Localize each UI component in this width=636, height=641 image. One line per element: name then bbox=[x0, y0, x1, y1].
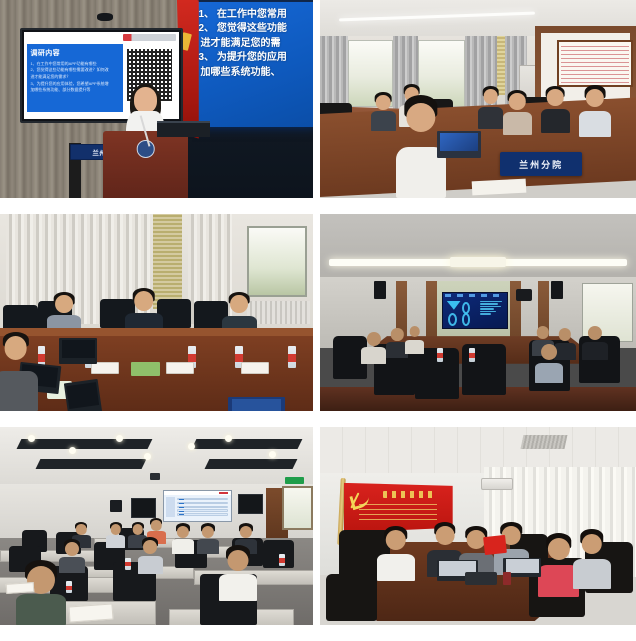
trainee bbox=[106, 524, 125, 548]
projection-line-2: 2、 您觉得这些功能 bbox=[198, 22, 312, 37]
attendee-body bbox=[361, 347, 386, 363]
attendee bbox=[579, 89, 611, 137]
attendee bbox=[405, 326, 424, 354]
official-head bbox=[134, 291, 154, 311]
attendee-head bbox=[509, 93, 525, 109]
trainee-head bbox=[202, 526, 214, 538]
trainee-head bbox=[65, 542, 79, 556]
trainee-head bbox=[227, 550, 248, 571]
trainee-body bbox=[197, 539, 219, 553]
tablet bbox=[228, 397, 284, 411]
trainee-head bbox=[143, 540, 157, 554]
display-titlebar bbox=[164, 491, 231, 495]
attendee-body bbox=[503, 112, 531, 134]
attendee-head bbox=[483, 89, 498, 104]
ceiling-beam bbox=[35, 459, 146, 469]
downlight bbox=[144, 453, 151, 460]
corridor-window bbox=[282, 486, 313, 530]
display-row bbox=[177, 513, 228, 515]
slide-body: 调研内容 1、在工作中您常用的APP功能有哪些 2、您觉得这些功能有哪些需要改进… bbox=[27, 44, 123, 112]
wall-clock-icon bbox=[516, 289, 532, 301]
display-sidebar bbox=[166, 497, 175, 518]
attendee-body bbox=[478, 107, 503, 128]
water-bottle bbox=[288, 346, 296, 368]
attendee-head bbox=[588, 326, 602, 340]
trainee bbox=[219, 550, 257, 601]
camera-icon bbox=[97, 13, 113, 21]
photo-collage: 1、 在工作中您常用 2、 您觉得这些功能 进才能满足您的需 3、 为提升您的应… bbox=[0, 0, 636, 641]
banner-oath-text bbox=[359, 503, 438, 520]
attendee-head bbox=[406, 103, 435, 132]
trainee-body bbox=[106, 535, 125, 547]
speaker bbox=[374, 281, 387, 299]
brand-logo-icon bbox=[123, 34, 176, 41]
attendee bbox=[361, 332, 386, 364]
downlight bbox=[269, 451, 276, 458]
participant bbox=[377, 530, 415, 581]
trainee bbox=[138, 540, 163, 574]
attendee bbox=[582, 326, 607, 359]
desk-nameplate: 兰州分院 bbox=[500, 152, 582, 176]
laptop bbox=[59, 338, 97, 364]
slide-item-3: 进才能满足您的需求？ bbox=[30, 74, 120, 81]
presenter-head bbox=[134, 87, 157, 113]
downlight bbox=[28, 435, 35, 442]
exit-sign-icon bbox=[285, 477, 304, 484]
donut-gauge bbox=[462, 313, 470, 325]
trainee-head bbox=[240, 526, 252, 538]
green-desk-box bbox=[131, 362, 159, 376]
official-head bbox=[230, 295, 248, 314]
laptop bbox=[437, 131, 481, 159]
display-row bbox=[177, 506, 228, 508]
laptop-screen bbox=[440, 133, 477, 150]
attendee-body bbox=[371, 111, 396, 130]
participant-head bbox=[386, 530, 406, 550]
chair bbox=[326, 574, 377, 622]
photo-panel-3 bbox=[0, 214, 313, 411]
attendee-head bbox=[4, 336, 27, 360]
foreground-attendee bbox=[0, 336, 38, 411]
projection-screen: 1、 在工作中您常用 2、 您觉得这些功能 进才能满足您的需 3、 为提升您的应… bbox=[192, 2, 313, 127]
dashboard-header bbox=[445, 294, 504, 297]
ceiling-vent bbox=[521, 435, 568, 449]
attendee-head bbox=[559, 328, 571, 340]
attendee-head bbox=[586, 89, 604, 107]
slide-item-2: 2、您觉得这些功能有哪些需要改进？如何改 bbox=[30, 67, 120, 74]
trainee-body bbox=[172, 539, 194, 553]
photo-panel-2: 兰州分院 bbox=[320, 0, 636, 198]
foreground-trainee bbox=[16, 566, 66, 625]
attendee-head bbox=[409, 326, 420, 337]
participant-head bbox=[547, 538, 569, 560]
water-bottle bbox=[125, 558, 131, 570]
attendee-body bbox=[541, 109, 569, 133]
projector bbox=[150, 473, 159, 481]
trainee-head bbox=[177, 526, 189, 538]
attendee-head bbox=[367, 332, 381, 346]
water-bottle bbox=[469, 348, 475, 362]
trainee-body bbox=[16, 594, 66, 625]
water-bottle bbox=[66, 581, 72, 593]
water-bottle bbox=[437, 348, 443, 362]
official-head bbox=[55, 295, 73, 314]
photo-panel-1: 1、 在工作中您常用 2、 您觉得这些功能 进才能满足您的需 3、 为提升您的应… bbox=[0, 0, 313, 198]
attendee-head bbox=[537, 326, 549, 338]
small-national-flag bbox=[483, 535, 507, 555]
photo-panel-6 bbox=[320, 427, 636, 625]
trainee-head bbox=[132, 524, 143, 535]
attendee-body bbox=[579, 111, 611, 137]
projection-line-3: 进才能满足您的需 bbox=[198, 37, 312, 52]
ceiling-beam bbox=[192, 439, 303, 449]
projection-line-4: 3、 为提升您的应用 bbox=[198, 51, 312, 66]
trainee-head bbox=[111, 524, 122, 535]
desk-nameplate-label: 兰州分院 bbox=[519, 158, 563, 171]
name-card bbox=[241, 362, 269, 374]
lectern bbox=[103, 131, 188, 198]
attendee-head bbox=[547, 89, 563, 105]
name-card bbox=[166, 362, 194, 374]
attendee bbox=[503, 93, 531, 135]
trainee-head bbox=[76, 524, 87, 535]
participant bbox=[573, 534, 611, 589]
trainee-body bbox=[138, 556, 163, 574]
documents bbox=[471, 179, 525, 196]
attendee bbox=[371, 95, 396, 131]
downlight bbox=[69, 447, 76, 454]
ceiling bbox=[320, 214, 636, 279]
photo-panel-4 bbox=[320, 214, 636, 411]
participant-head bbox=[435, 526, 454, 545]
air-conditioner bbox=[481, 478, 513, 490]
funnel-chart bbox=[447, 301, 461, 310]
attendee-head bbox=[391, 328, 403, 340]
radiator bbox=[247, 301, 310, 325]
downlight bbox=[116, 435, 123, 442]
display-row bbox=[177, 498, 228, 500]
trainee bbox=[172, 526, 194, 554]
notebook bbox=[68, 604, 113, 623]
lectern-laptop bbox=[157, 121, 210, 137]
ceiling-beam bbox=[204, 459, 296, 469]
attendee-body bbox=[0, 371, 38, 411]
downlight bbox=[188, 443, 195, 450]
projector bbox=[465, 572, 497, 586]
curtain-1 bbox=[320, 36, 348, 111]
bar-chart bbox=[480, 301, 504, 324]
photo-panel-5 bbox=[0, 427, 313, 625]
banner-title bbox=[383, 491, 435, 498]
institute-emblem-icon bbox=[136, 140, 155, 158]
participant-body bbox=[573, 559, 611, 589]
attendee bbox=[535, 344, 563, 383]
window bbox=[247, 226, 306, 297]
downlight bbox=[225, 435, 232, 442]
ceiling-beam bbox=[16, 439, 152, 449]
donut-gauge bbox=[448, 313, 457, 326]
attendee bbox=[478, 89, 503, 129]
training-display bbox=[163, 490, 232, 522]
speaker bbox=[110, 500, 123, 512]
framed-certificate bbox=[557, 40, 633, 88]
cup bbox=[503, 572, 511, 586]
attendee-body bbox=[405, 340, 424, 354]
attendee-head bbox=[541, 344, 557, 360]
slide-title: 调研内容 bbox=[30, 48, 120, 58]
water-bottle bbox=[279, 554, 285, 566]
trainee-body bbox=[219, 574, 257, 601]
wall-column bbox=[426, 281, 437, 344]
speaker bbox=[551, 281, 564, 299]
attendee bbox=[541, 89, 569, 133]
laptop bbox=[64, 379, 103, 411]
side-monitor bbox=[238, 494, 263, 514]
attendee-body bbox=[535, 363, 563, 383]
participant-head bbox=[582, 534, 602, 554]
display-row bbox=[177, 502, 228, 504]
attendee-body bbox=[582, 342, 607, 359]
projection-line-1: 1、 在工作中您常用 bbox=[198, 8, 312, 23]
instructor-head bbox=[151, 520, 162, 531]
attendee-head bbox=[376, 95, 391, 110]
slide-item-4: 3、为提升您的应用体验，您希望APP系统增 bbox=[30, 81, 120, 88]
slide-item-5: 加哪些系统功能、部分数据提升等 bbox=[30, 87, 120, 94]
projection-line-5: 加哪些系统功能、 bbox=[198, 66, 312, 81]
trainee bbox=[197, 526, 219, 554]
participant-body bbox=[377, 554, 415, 582]
dashboard-display bbox=[442, 292, 508, 329]
display-row bbox=[177, 509, 228, 511]
side-monitor bbox=[131, 498, 156, 518]
ceiling-lamp bbox=[450, 257, 507, 267]
slide-item-1: 1、在工作中您常用的APP功能有哪些 bbox=[30, 61, 120, 68]
